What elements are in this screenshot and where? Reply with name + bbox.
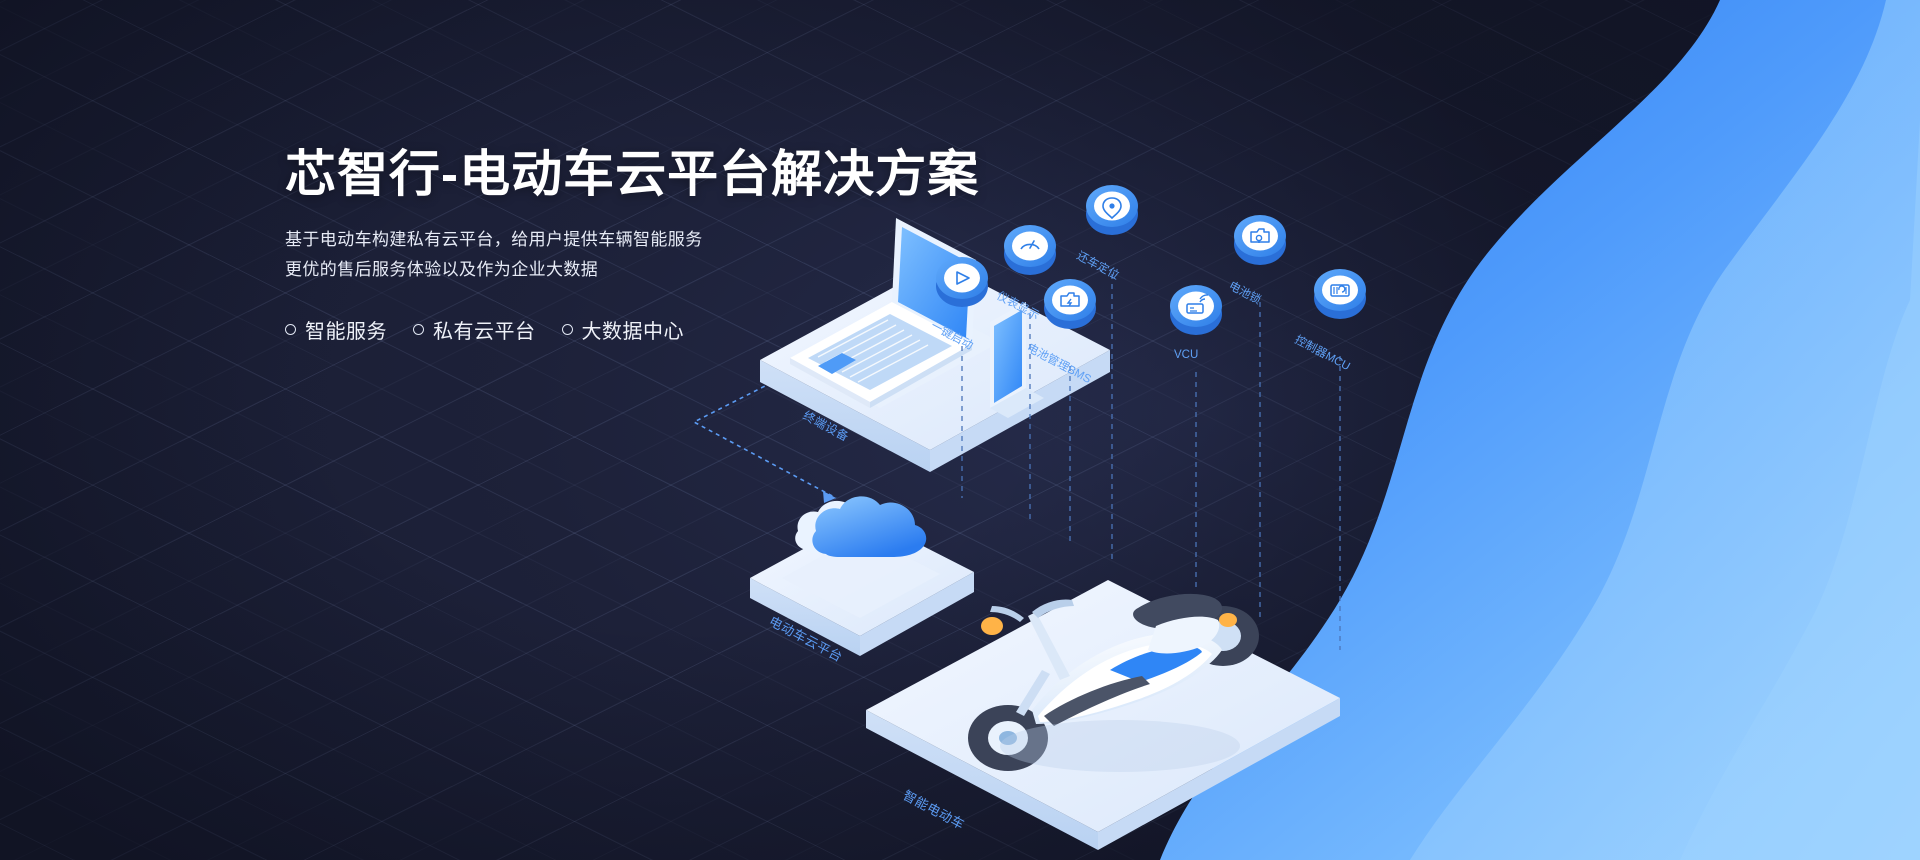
circle-outline-icon: [562, 324, 573, 335]
hero-text-block: 芯智行-电动车云平台解决方案 基于电动车构建私有云平台，给用户提供车辆智能服务 …: [285, 148, 1105, 344]
circle-outline-icon: [413, 324, 424, 335]
feature-label: 智能服务: [305, 315, 387, 344]
hero-subtitle: 基于电动车构建私有云平台，给用户提供车辆智能服务 更优的售后服务体验以及作为企业…: [285, 225, 1105, 285]
feature-item-big-data: 大数据中心: [562, 315, 685, 344]
platform-cloud: 电动车云平台: [750, 496, 974, 664]
feature-label: 大数据中心: [582, 315, 685, 344]
badge-label: 控制器MCU: [1293, 332, 1353, 373]
badge-controller-mcu[interactable]: 控制器MCU: [1293, 269, 1366, 650]
feature-item-private-cloud: 私有云平台: [413, 315, 536, 344]
badge-vcu[interactable]: VCU: [1170, 285, 1222, 592]
feature-list: 智能服务 私有云平台 大数据中心: [285, 315, 1105, 344]
hero-subtitle-line-1: 基于电动车构建私有云平台，给用户提供车辆智能服务: [285, 225, 1105, 255]
page-title: 芯智行-电动车云平台解决方案: [285, 148, 1121, 201]
badge-battery-lock[interactable]: 电池锁: [1227, 215, 1286, 618]
badge-label: 电池锁: [1227, 278, 1264, 307]
circle-outline-icon: [285, 324, 296, 335]
cloud-icon: [795, 496, 926, 557]
hero-banner: 芯智行-电动车云平台解决方案 基于电动车构建私有云平台，给用户提供车辆智能服务 …: [0, 0, 1920, 860]
platform-label-vehicle: 智能电动车: [901, 787, 968, 832]
badge-label: VCU: [1174, 349, 1198, 361]
feature-item-smart-service: 智能服务: [285, 315, 387, 344]
hero-subtitle-line-2: 更优的售后服务体验以及作为企业大数据: [285, 255, 1105, 285]
platform-vehicle: 智能电动车: [866, 580, 1340, 850]
feature-label: 私有云平台: [433, 315, 536, 344]
